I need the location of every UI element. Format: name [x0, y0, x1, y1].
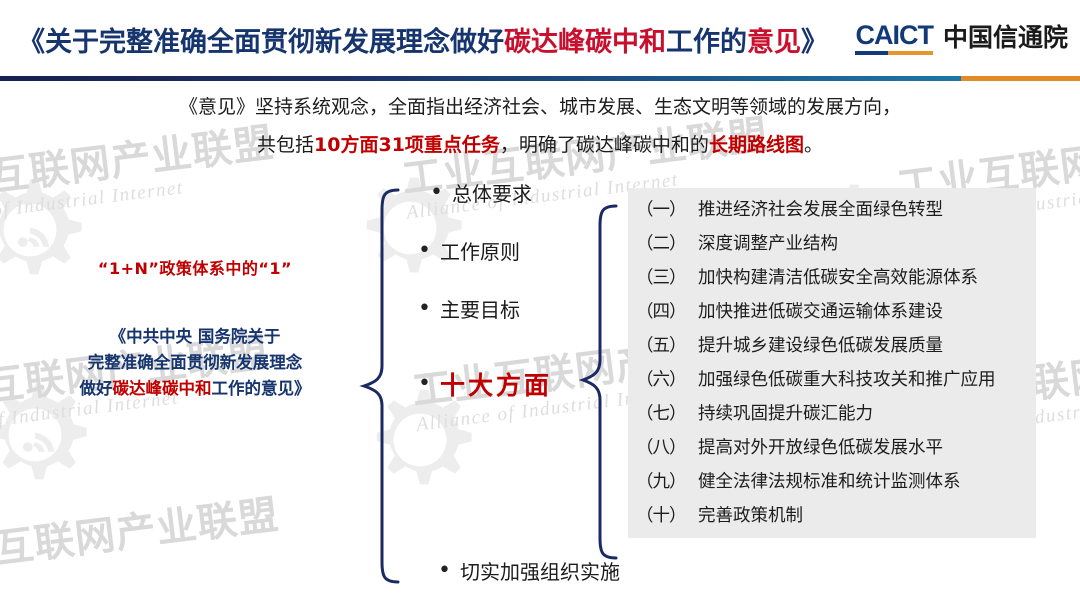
aspect-number: （八）	[636, 434, 698, 459]
aspect-number: （四）	[636, 298, 698, 323]
page-title: 《关于完整准确全面贯彻新发展理念做好碳达峰碳中和工作的意见》	[18, 20, 828, 59]
rule-accent-segment	[961, 76, 1080, 81]
intro-highlight-roadmap: 长期路线图	[709, 134, 804, 156]
page-header: 《关于完整准确全面贯彻新发展理念做好碳达峰碳中和工作的意见》 CAICT 中国信…	[0, 0, 1080, 78]
aspect-item-6[interactable]: （六） 加强绿色低碳重大科技攻关和推广应用	[636, 366, 1036, 400]
intro-text: 。	[804, 134, 823, 156]
underline-orange-segment	[888, 51, 933, 55]
outline-item-label: 主要目标	[440, 294, 520, 323]
aspect-label: 提高对外开放绿色低碳发展水平	[698, 434, 1036, 459]
bullet-dot-icon: •	[418, 373, 440, 395]
intro-line-2: 共包括10方面31项重点任务，明确了碳达峰碳中和的长期路线图。	[0, 126, 1080, 164]
bullet-dot-icon: •	[418, 298, 440, 320]
page-title-part-highlight: 意见	[747, 27, 801, 58]
aspect-number: （一）	[636, 196, 698, 221]
aspect-label: 深度调整产业结构	[698, 230, 1036, 255]
aspect-number: （七）	[636, 400, 698, 425]
aspect-item-9[interactable]: （九） 健全法律法规标准和统计监测体系	[636, 468, 1036, 502]
aspect-label: 加强绿色低碳重大科技攻关和推广应用	[698, 366, 1036, 391]
page-title-part-highlight: 碳达峰碳中和	[504, 27, 666, 58]
aspect-item-1[interactable]: （一） 推进经济社会发展全面绿色转型	[636, 196, 1036, 230]
policy-system-block: “1+N”政策体系中的“1” 《中共中央 国务院关于 完整准确全面贯彻新发展理念…	[35, 255, 355, 402]
intro-paragraph: 《意见》坚持系统观念，全面指出经济社会、城市发展、生态文明等领域的发展方向， 共…	[0, 88, 1080, 164]
aspect-label: 提升城乡建设绿色低碳发展质量	[698, 332, 1036, 357]
aspect-label: 推进经济社会发展全面绿色转型	[698, 196, 1036, 221]
aspect-item-10[interactable]: （十） 完善政策机制	[636, 502, 1036, 536]
outline-item-label: 总体要求	[452, 178, 532, 207]
aspect-item-7[interactable]: （七） 持续巩固提升碳汇能力	[636, 400, 1036, 434]
aspect-number: （六）	[636, 366, 698, 391]
aspect-item-3[interactable]: （三） 加快构建清洁低碳安全高效能源体系	[636, 264, 1036, 298]
page-title-part: 《关于完整准确全面贯彻新发展理念做好	[18, 27, 504, 58]
aspect-label: 持续巩固提升碳汇能力	[698, 400, 1036, 425]
left-brace-connector	[358, 186, 406, 586]
bullet-dot-icon: •	[438, 560, 460, 582]
bullet-dot-icon: •	[430, 182, 452, 204]
aspect-label: 健全法律法规标准和统计监测体系	[698, 468, 1036, 493]
page-title-part: 工作的	[666, 27, 747, 58]
policy-document-title: 《中共中央 国务院关于 完整准确全面贯彻新发展理念 做好碳达峰碳中和工作的意见》	[35, 324, 355, 402]
brand-name-cn: 中国信通院	[943, 25, 1068, 55]
aspect-label: 加快推进低碳交通运输体系建设	[698, 298, 1036, 323]
outline-item-label: 十大方面	[440, 366, 552, 402]
doc-title-text: 做好	[80, 379, 113, 398]
header-divider-rule	[0, 76, 1080, 81]
caict-logo-text: CAICT	[855, 22, 933, 49]
rule-gradient-segment	[0, 76, 961, 81]
outline-item-ten-aspects[interactable]: • 十大方面	[418, 366, 552, 402]
outline-item-work-principles[interactable]: • 工作原则	[418, 236, 520, 265]
outline-item-label: 工作原则	[440, 236, 520, 265]
ten-aspects-list: （一） 推进经济社会发展全面绿色转型 （二） 深度调整产业结构 （三） 加快构建…	[636, 196, 1036, 536]
aspect-number: （九）	[636, 468, 698, 493]
page-title-part: 》	[801, 27, 828, 58]
aspect-label: 完善政策机制	[698, 502, 1036, 527]
content-stage: “1+N”政策体系中的“1” 《中共中央 国务院关于 完整准确全面贯彻新发展理念…	[0, 160, 1080, 608]
brand-logo: CAICT 中国信通院	[855, 22, 1068, 55]
aspect-number: （三）	[636, 264, 698, 289]
aspect-number: （五）	[636, 332, 698, 357]
outline-item-main-goals[interactable]: • 主要目标	[418, 294, 520, 323]
aspect-item-2[interactable]: （二） 深度调整产业结构	[636, 230, 1036, 264]
intro-highlight-tasks: 10方面31项重点任务	[314, 134, 500, 156]
policy-system-kicker: “1+N”政策体系中的“1”	[35, 255, 355, 279]
outline-item-overall-requirements[interactable]: • 总体要求	[430, 178, 532, 207]
aspect-item-5[interactable]: （五） 提升城乡建设绿色低碳发展质量	[636, 332, 1036, 366]
caict-logo-mark: CAICT	[855, 22, 933, 55]
doc-title-highlight: 碳达峰碳中和	[113, 379, 212, 398]
intro-text: ，明确了碳达峰碳中和的	[500, 134, 709, 156]
doc-title-line-2: 完整准确全面贯彻新发展理念	[35, 350, 355, 376]
aspect-number: （二）	[636, 230, 698, 255]
aspect-item-4[interactable]: （四） 加快推进低碳交通运输体系建设	[636, 298, 1036, 332]
doc-title-line-1: 《中共中央 国务院关于	[35, 324, 355, 350]
right-brace-connector	[578, 202, 624, 562]
caict-logo-underline	[855, 51, 933, 55]
intro-text: 共包括	[257, 134, 314, 156]
doc-title-line-3: 做好碳达峰碳中和工作的意见》	[35, 376, 355, 402]
aspect-number: （十）	[636, 502, 698, 527]
doc-title-text: 工作的意见》	[212, 379, 311, 398]
aspect-item-8[interactable]: （八） 提高对外开放绿色低碳发展水平	[636, 434, 1036, 468]
intro-line-1: 《意见》坚持系统观念，全面指出经济社会、城市发展、生态文明等领域的发展方向，	[0, 88, 1080, 126]
bullet-dot-icon: •	[418, 240, 440, 262]
aspect-label: 加快构建清洁低碳安全高效能源体系	[698, 264, 1036, 289]
underline-blue-segment	[855, 51, 888, 55]
